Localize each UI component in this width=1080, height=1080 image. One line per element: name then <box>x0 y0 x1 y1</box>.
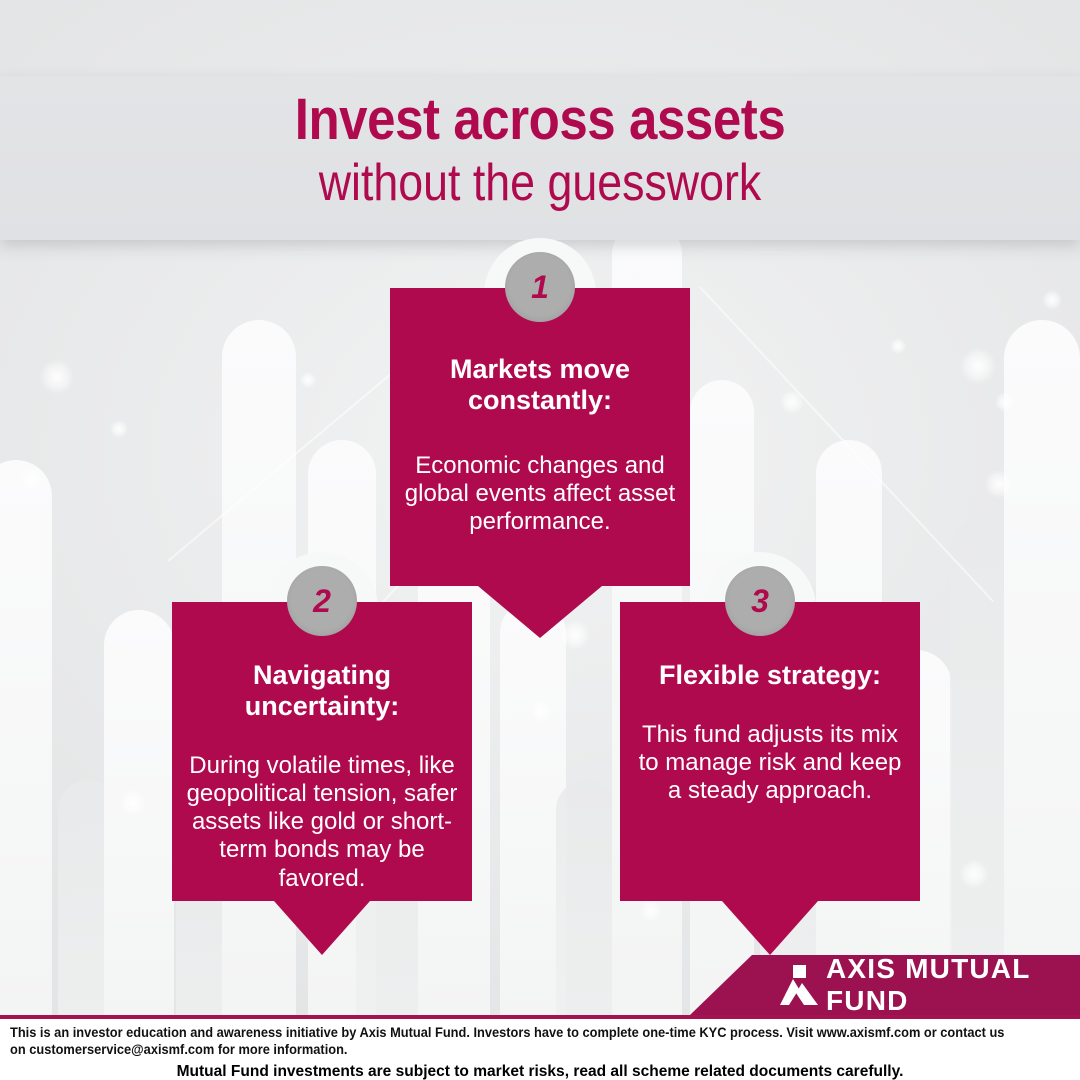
infographic-canvas: Invest across assets without the guesswo… <box>0 0 1080 1080</box>
card-body-2: During volatile times, like geopolitical… <box>184 752 460 894</box>
brand-logo-band: AXIS MUTUAL FUND <box>690 955 1080 1015</box>
footer-disclaimer: This is an investor education and awaren… <box>0 1019 1080 1080</box>
card-flexible-strategy[interactable]: Flexible strategy: This fund adjusts its… <box>620 602 920 901</box>
header-band: Invest across assets without the guesswo… <box>0 76 1080 240</box>
axis-a-logo-icon <box>776 965 820 1005</box>
card-title-2: Navigating uncertainty: <box>184 660 460 722</box>
card-body-1: Economic changes and global events affec… <box>404 452 676 537</box>
card-title-1: Markets move constantly: <box>404 354 676 416</box>
step-badge-2: 2 <box>287 566 357 636</box>
card-navigating-uncertainty[interactable]: Navigating uncertainty: During volatile … <box>172 602 472 901</box>
card-body-3: This fund adjusts its mix to manage risk… <box>632 721 908 806</box>
card-tail-2 <box>274 901 370 955</box>
brand-logo-text: AXIS MUTUAL FUND <box>826 953 1080 1017</box>
page-title: Invest across assets <box>65 76 1015 151</box>
card-title-3: Flexible strategy: <box>632 660 908 691</box>
step-badge-1: 1 <box>505 252 575 322</box>
step-badge-3: 3 <box>725 566 795 636</box>
card-tail-3 <box>722 901 818 955</box>
risk-statement: Mutual Fund investments are subject to m… <box>26 1063 1054 1080</box>
page-subtitle: without the guesswork <box>76 151 1005 212</box>
disclaimer-note: This is an investor education and awaren… <box>10 1024 1017 1059</box>
card-tail-1 <box>478 586 602 638</box>
card-markets-move-constantly[interactable]: Markets move constantly: Economic change… <box>390 288 690 586</box>
